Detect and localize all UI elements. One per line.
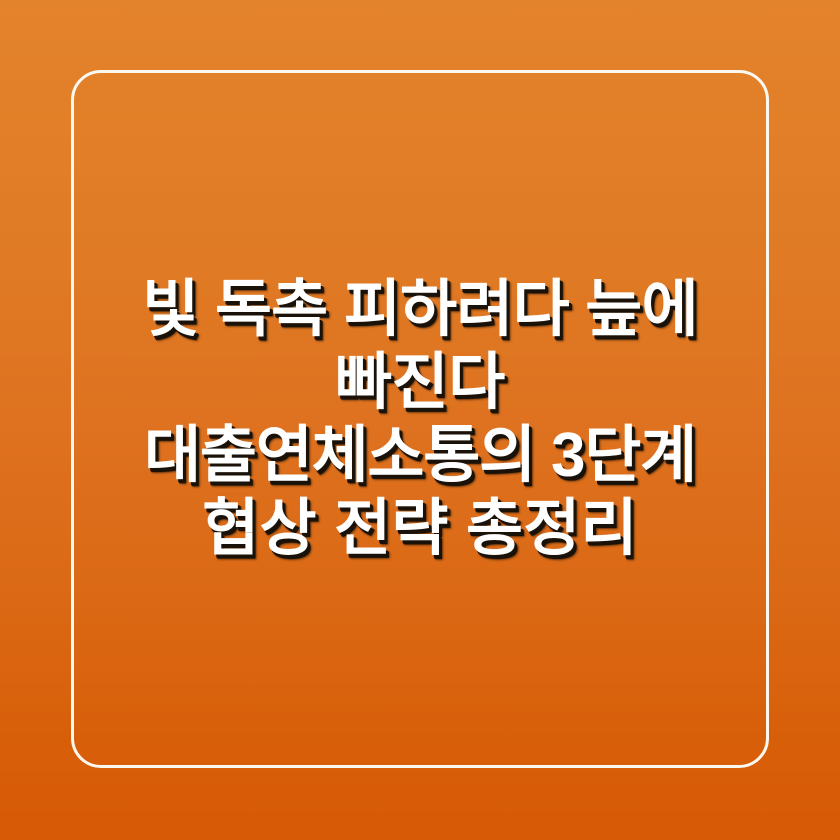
headline-block: 빛 독촉 피하려다 늪에 빠진다 대출연체소통의 3단계 협상 전략 총정리 bbox=[71, 70, 769, 768]
headline-line-4: 협상 전략 총정리 bbox=[81, 492, 759, 565]
headline-line-1: 빛 독촉 피하려다 늪에 bbox=[81, 273, 759, 346]
thumbnail-card: 빛 독촉 피하려다 늪에 빠진다 대출연체소통의 3단계 협상 전략 총정리 bbox=[0, 0, 840, 840]
headline-line-2: 빠진다 bbox=[81, 346, 759, 419]
headline-line-3: 대출연체소통의 3단계 bbox=[81, 419, 759, 492]
